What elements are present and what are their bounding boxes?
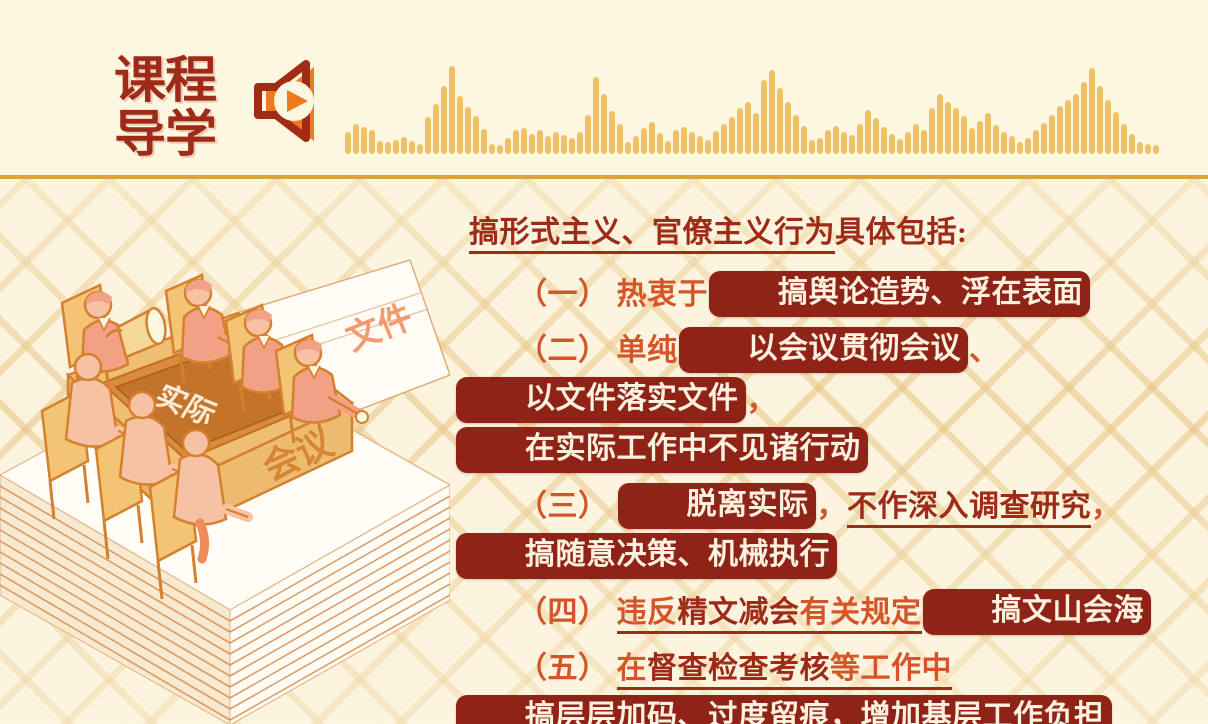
- waveform-bar: [881, 127, 887, 154]
- clause-item: （一） 热衷于搞舆论造势、浮在表面: [455, 270, 1155, 320]
- clause-list: （一） 热衷于搞舆论造势、浮在表面（二） 单纯以会议贯彻会议、以文件落实文件，在…: [455, 270, 1155, 724]
- logo-text-line2: 导学: [114, 108, 216, 160]
- waveform-bar: [489, 144, 495, 154]
- lesson-text-block: 搞形式主义、官僚主义行为具体包括: （一） 热衷于搞舆论造势、浮在表面（二） 单…: [455, 208, 1155, 724]
- waveform-bar: [425, 117, 431, 154]
- waveform-bar: [1033, 130, 1039, 154]
- waveform-bar: [1065, 100, 1071, 154]
- waveform-bar: [561, 135, 567, 154]
- clause-number: （一）: [517, 278, 617, 311]
- waveform-bar: [1025, 138, 1031, 154]
- waveform-bar: [753, 113, 759, 154]
- waveform-bar: [849, 135, 855, 154]
- waveform-bar: [481, 129, 487, 154]
- highlight-pill: 搞文山会海: [923, 589, 1152, 635]
- phrase-strong: 精文减会: [678, 596, 800, 629]
- waveform-bar: [529, 134, 535, 154]
- waveform-bar: [977, 121, 983, 154]
- phrase-tail: 有关规定: [800, 596, 922, 629]
- clause-item: （三） 脱离实际，不作深入调查研究，搞随意决策、机械执行: [455, 482, 1155, 582]
- waveform-bar: [465, 107, 471, 154]
- clause-item: （四） 违反精文减会有关规定搞文山会海: [455, 588, 1155, 638]
- waveform-bar: [449, 66, 455, 154]
- waveform-bar: [1105, 100, 1111, 154]
- clause-number: （五）: [517, 652, 617, 685]
- waveform-bar: [961, 116, 967, 154]
- section-title-emphasis: 搞形式主义、官僚主义行为: [469, 216, 835, 254]
- underlined-phrase: 违反精文减会有关规定: [617, 596, 922, 634]
- waveform-bar: [433, 104, 439, 154]
- logo-line-2: 导学: [112, 106, 218, 160]
- clause-separator: 、: [969, 334, 1000, 367]
- clause-separator: ，: [747, 384, 778, 417]
- waveform-bar: [825, 130, 831, 154]
- waveform-bar: [649, 122, 655, 154]
- waveform-bar: [921, 130, 927, 154]
- waveform-bar: [585, 115, 591, 154]
- waveform-bar: [505, 138, 511, 154]
- waveform-bar: [809, 140, 815, 154]
- meeting-illustration: 文件 会议 实际: [0, 255, 450, 724]
- highlight-pill: 以文件落实文件: [456, 377, 746, 423]
- waveform-bar: [369, 130, 375, 154]
- highlight-pill: 脱离实际: [618, 483, 816, 529]
- waveform-bar: [1145, 144, 1151, 154]
- waveform-bar: [625, 142, 631, 154]
- clause-item: （二） 单纯以会议贯彻会议、以文件落实文件，在实际工作中不见诸行动: [455, 326, 1155, 476]
- course-guide-logo: 课程 导学: [112, 52, 218, 162]
- highlight-pill: 搞随意决策、机械执行: [456, 533, 837, 579]
- waveform-bar: [657, 133, 663, 154]
- waveform-bar: [497, 145, 503, 154]
- waveform-bar: [569, 138, 575, 154]
- waveform-bar: [417, 144, 423, 154]
- waveform-bar: [393, 140, 399, 154]
- waveform-bar: [1113, 112, 1119, 154]
- waveform-bar: [785, 102, 791, 154]
- waveform-bar: [537, 130, 543, 154]
- waveform-bar: [553, 132, 559, 154]
- waveform-bar: [985, 113, 991, 154]
- waveform-bar: [713, 131, 719, 154]
- waveform-bar: [697, 136, 703, 154]
- waveform-bar: [857, 124, 863, 154]
- clause-separator: ，: [1091, 490, 1122, 523]
- waveform-bar: [1049, 115, 1055, 154]
- slide-root: 课程 导学: [0, 0, 1208, 724]
- phrase-strong: 督查检查考核: [647, 652, 830, 685]
- waveform-bar: [593, 77, 599, 154]
- clause-item: （五） 在督查检查考核等工作中搞层层加码、过度留痕，增加基层工作负担: [455, 644, 1155, 724]
- waveform-bar: [513, 130, 519, 154]
- waveform-bar: [673, 130, 679, 154]
- waveform-bar: [1097, 86, 1103, 154]
- waveform-bar: [745, 102, 751, 154]
- highlight-pill: 搞层层加码、过度留痕，增加基层工作负担: [456, 695, 1112, 724]
- speaker-play-icon[interactable]: [244, 54, 340, 154]
- clause-separator: ，: [817, 490, 848, 523]
- waveform-bar: [353, 124, 359, 154]
- waveform-bar: [873, 118, 879, 154]
- waveform-bar: [577, 132, 583, 154]
- waveform-bar: [361, 127, 367, 154]
- logo-text-line1: 课程: [114, 54, 216, 106]
- waveform-bar: [945, 102, 951, 154]
- waveform-bar: [385, 142, 391, 154]
- waveform-bar: [841, 132, 847, 154]
- waveform-bar: [801, 126, 807, 154]
- waveform-bar: [793, 115, 799, 154]
- logo-line-1: 课程: [112, 52, 218, 106]
- waveform-bar: [409, 141, 415, 154]
- waveform-bar: [681, 127, 687, 154]
- clause-plain-text: 热衷于: [617, 278, 709, 311]
- waveform-bar: [609, 111, 615, 154]
- waveform-bar: [1137, 142, 1143, 154]
- waveform-bar: [457, 96, 463, 154]
- waveform-bar: [1089, 68, 1095, 154]
- phrase-lead: 违反: [617, 596, 678, 629]
- waveform-bar: [1081, 82, 1087, 154]
- highlight-pill: 以会议贯彻会议: [679, 327, 969, 373]
- waveform-bar: [953, 108, 959, 154]
- waveform-bar: [401, 137, 407, 154]
- waveform-bar: [1041, 123, 1047, 154]
- waveform-bar: [689, 132, 695, 154]
- waveform-bar: [545, 136, 551, 154]
- waveform-bar: [1017, 142, 1023, 154]
- phrase-lead: 在: [617, 652, 648, 685]
- waveform-bar: [721, 124, 727, 154]
- waveform-bar: [929, 108, 935, 154]
- clause-number: （四）: [517, 596, 617, 629]
- waveform-bar: [521, 128, 527, 154]
- waveform-bar: [817, 138, 823, 154]
- waveform-bar: [641, 128, 647, 154]
- waveform-bar: [377, 141, 383, 154]
- waveform-bar: [897, 139, 903, 154]
- waveform-bar: [993, 125, 999, 154]
- waveform-bar: [769, 70, 775, 154]
- phrase-tail: 等工作中: [830, 652, 952, 685]
- waveform-bar: [665, 141, 671, 154]
- waveform-bar: [601, 94, 607, 154]
- waveform-bar: [441, 86, 447, 154]
- waveform-bar: [889, 134, 895, 154]
- clause-number: （三）: [517, 490, 617, 523]
- waveform-bar: [937, 94, 943, 154]
- waveform-bar: [969, 128, 975, 154]
- waveform-bar: [833, 126, 839, 154]
- waveform-bar: [777, 88, 783, 154]
- section-title: 搞形式主义、官僚主义行为具体包括:: [455, 208, 1155, 258]
- waveform-bar: [473, 116, 479, 154]
- waveform-bar: [865, 110, 871, 154]
- highlight-pill: 搞舆论造势、浮在表面: [709, 271, 1090, 317]
- clause-number: （二）: [517, 334, 617, 367]
- waveform-bar: [345, 132, 351, 154]
- waveform-bar: [1153, 145, 1159, 154]
- highlight-pill: 在实际工作中不见诸行动: [456, 427, 868, 473]
- header-bar: 课程 导学: [0, 0, 1208, 176]
- section-title-rest: 具体包括:: [835, 216, 968, 249]
- waveform-bar: [1129, 134, 1135, 154]
- waveform-bar: [1073, 94, 1079, 154]
- underlined-emphasis: 不作深入调查研究: [847, 490, 1091, 528]
- clause-plain-text: 单纯: [617, 334, 678, 367]
- waveform-bar: [737, 108, 743, 154]
- waveform-bar: [617, 124, 623, 154]
- waveform-bar: [705, 140, 711, 154]
- waveform-bar: [1009, 136, 1015, 154]
- waveform-bar: [1057, 106, 1063, 154]
- audio-waveform: [345, 26, 1135, 154]
- waveform-bar: [729, 117, 735, 154]
- waveform-bar: [905, 132, 911, 154]
- waveform-bar: [1001, 132, 1007, 154]
- waveform-bar: [633, 136, 639, 154]
- waveform-bar: [913, 124, 919, 154]
- waveform-bar: [1121, 124, 1127, 154]
- waveform-bar: [761, 80, 767, 154]
- underlined-phrase: 在督查检查考核等工作中: [617, 652, 953, 690]
